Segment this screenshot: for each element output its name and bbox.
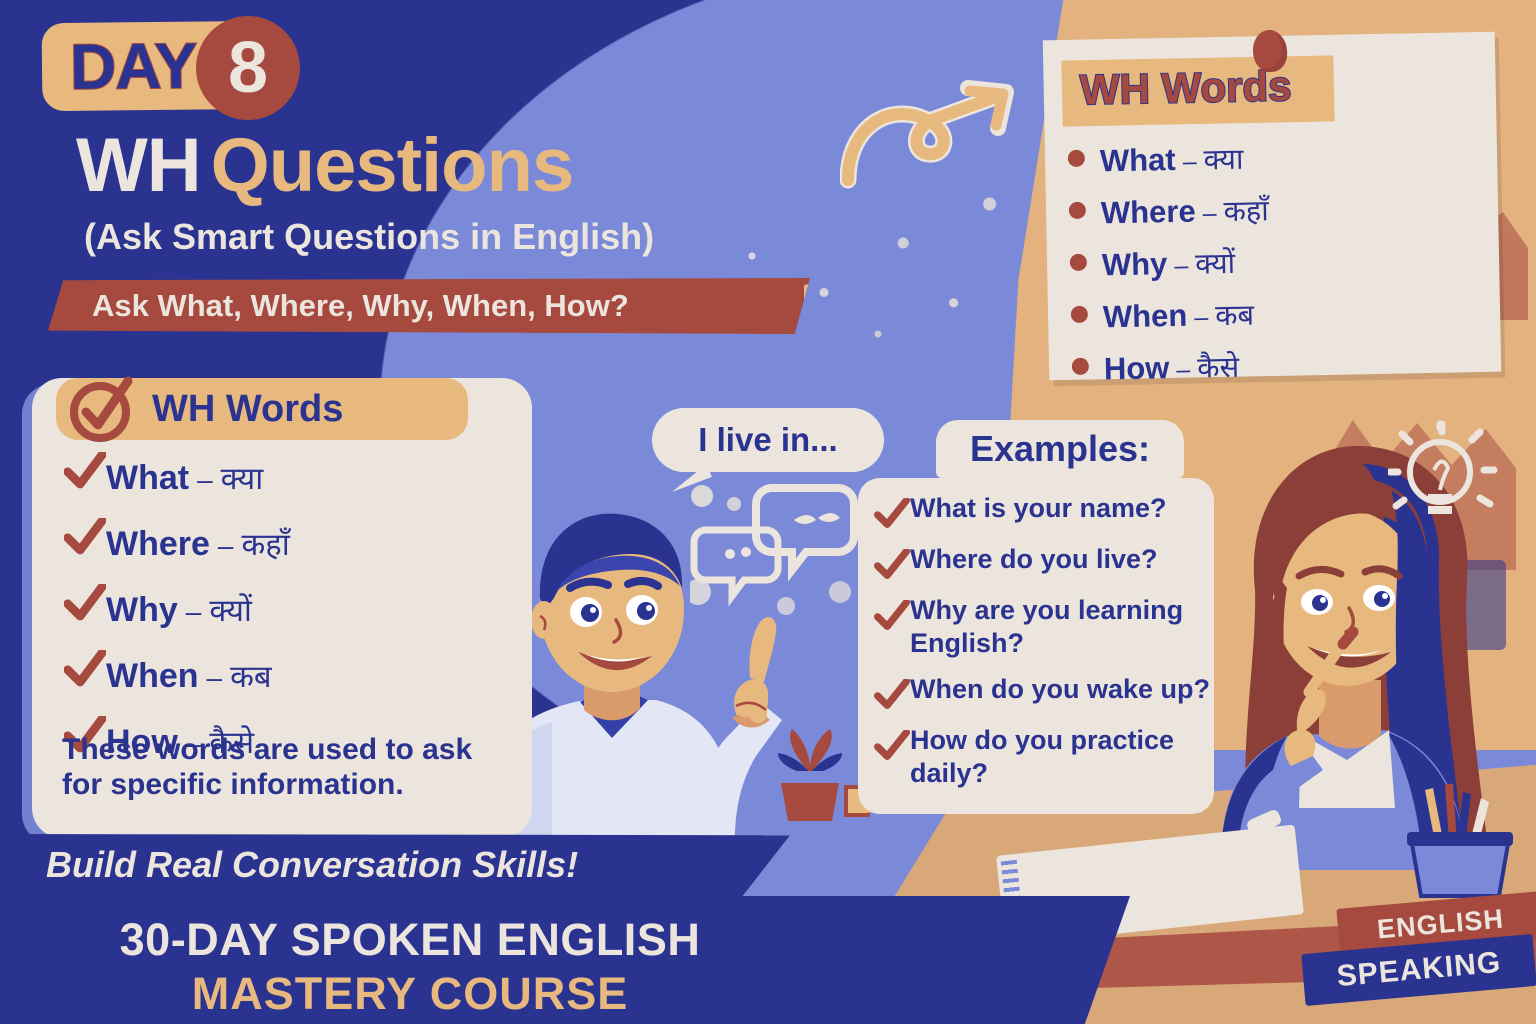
- course-title-line2: MASTERY COURSE: [0, 968, 820, 1020]
- example-text: How do you practice daily?: [910, 724, 1210, 789]
- list-item: How do you practice daily?: [874, 724, 1210, 789]
- wh-word-hindi: कब: [230, 655, 272, 697]
- wh-word-english: Where: [1101, 194, 1196, 232]
- checkmark-icon: [874, 543, 910, 580]
- wh-word-hindi: कहाँ: [1223, 190, 1269, 230]
- example-text: When do you wake up?: [910, 673, 1210, 705]
- wh-word-dash: –: [207, 662, 223, 694]
- wh-word-hindi: क्यों: [209, 589, 252, 631]
- list-item: Why are you learning English?: [874, 594, 1210, 659]
- course-title-line1: 30-DAY SPOKEN ENGLISH: [0, 914, 820, 966]
- speech-bubble-text: I live in...: [698, 421, 837, 459]
- wh-words-left-heading: WH Words: [152, 388, 343, 431]
- wh-word-hindi: कब: [1215, 295, 1255, 335]
- day-number-circle: 8: [196, 16, 300, 120]
- pencil-cup-icon: [1395, 780, 1525, 900]
- wh-word-hindi: कैसे: [1197, 347, 1240, 387]
- example-text: Where do you live?: [910, 543, 1158, 575]
- lightbulb-icon: [1388, 420, 1498, 540]
- example-text: Why are you learning English?: [910, 594, 1210, 659]
- checkmark-icon: [64, 584, 106, 621]
- wh-words-topright-heading: WH Words: [1061, 55, 1334, 114]
- wh-word-english: Where: [106, 525, 210, 564]
- skills-banner-text: Build Real Conversation Skills!: [46, 844, 578, 886]
- tagline-text: Ask What, Where, Why, When, How?: [92, 288, 629, 324]
- checkmark-icon: [874, 492, 910, 529]
- examples-card-header: Examples:: [936, 420, 1184, 478]
- tagline-banner: Ask What, Where, Why, When, How?: [48, 278, 810, 334]
- wh-word-dash: –: [1202, 199, 1216, 228]
- list-item: How – कैसे: [1072, 342, 1493, 389]
- wh-words-topright-header: WH Words: [1061, 55, 1334, 126]
- wh-word-hindi: कहाँ: [242, 523, 290, 565]
- wh-word-dash: –: [218, 530, 234, 562]
- checkmark-icon: [64, 650, 106, 687]
- wh-word-english: Why: [1102, 246, 1168, 283]
- potted-plant-icon: [750, 715, 870, 825]
- wh-word-dash: –: [1194, 303, 1208, 332]
- page-title: WHQuestions: [76, 122, 573, 209]
- speech-bubble: I live in...: [652, 408, 884, 472]
- list-item: When – कब: [64, 650, 484, 697]
- wh-words-topright-list: What – क्या Where – कहाँ Why – क्यों Whe…: [1068, 134, 1493, 402]
- page-title-part1: WH: [76, 123, 201, 208]
- wh-word-dash: –: [1176, 356, 1190, 385]
- list-item: Why – क्यों: [64, 584, 484, 631]
- wh-word-english: Why: [106, 591, 178, 630]
- list-item: When – कब: [1071, 290, 1492, 337]
- wh-word-english: What: [1100, 142, 1176, 179]
- list-item: Where do you live?: [874, 543, 1210, 580]
- list-item: Why – क्यों: [1070, 238, 1491, 285]
- checkmark-icon: [64, 452, 106, 489]
- checkmark-icon: [874, 594, 910, 631]
- check-seal-icon: [66, 372, 140, 446]
- wh-word-dash: –: [186, 596, 202, 628]
- list-item: What is your name?: [874, 492, 1210, 529]
- wh-word-english: How: [1104, 350, 1170, 387]
- list-item: What – क्या: [64, 452, 484, 499]
- checkmark-icon: [874, 724, 910, 761]
- skills-banner: Build Real Conversation Skills!: [0, 834, 790, 896]
- bullet-icon: [1070, 254, 1087, 271]
- day-label: DAY: [70, 29, 197, 104]
- wh-word-dash: –: [1174, 252, 1188, 281]
- wh-word-hindi: क्यों: [1195, 243, 1236, 283]
- list-item: When do you wake up?: [874, 673, 1210, 710]
- bullet-icon: [1071, 306, 1088, 323]
- wh-words-left-note: These words are used to ask for specific…: [62, 732, 512, 803]
- wh-word-dash: –: [197, 464, 213, 496]
- examples-heading: Examples:: [970, 428, 1150, 470]
- bullet-icon: [1072, 358, 1089, 375]
- wh-word-english: What: [106, 459, 189, 498]
- poster-canvas: DAY 8 WHQuestions (Ask Smart Questions i…: [0, 0, 1536, 1024]
- example-text: What is your name?: [910, 492, 1167, 524]
- curved-arrow-icon: [840, 80, 1030, 190]
- wh-word-english: When: [1103, 298, 1188, 336]
- checkmark-icon: [874, 673, 910, 710]
- list-item: Where – कहाँ: [64, 518, 484, 565]
- day-number: 8: [228, 32, 268, 104]
- bullet-icon: [1068, 150, 1085, 167]
- book-speaking-label: SPEAKING: [1335, 946, 1502, 994]
- checkmark-icon: [64, 518, 106, 555]
- wh-word-english: When: [106, 657, 199, 696]
- list-item: What – क्या: [1068, 134, 1489, 181]
- bullet-icon: [1069, 202, 1086, 219]
- wh-word-dash: –: [1182, 148, 1196, 177]
- wh-word-hindi: क्या: [221, 457, 264, 499]
- examples-list: What is your name? Where do you live? Wh…: [874, 492, 1210, 803]
- page-subtitle: (Ask Smart Questions in English): [84, 216, 654, 258]
- list-item: Where – कहाँ: [1069, 186, 1490, 233]
- wh-word-hindi: क्या: [1203, 139, 1244, 179]
- page-title-part2: Questions: [211, 123, 574, 208]
